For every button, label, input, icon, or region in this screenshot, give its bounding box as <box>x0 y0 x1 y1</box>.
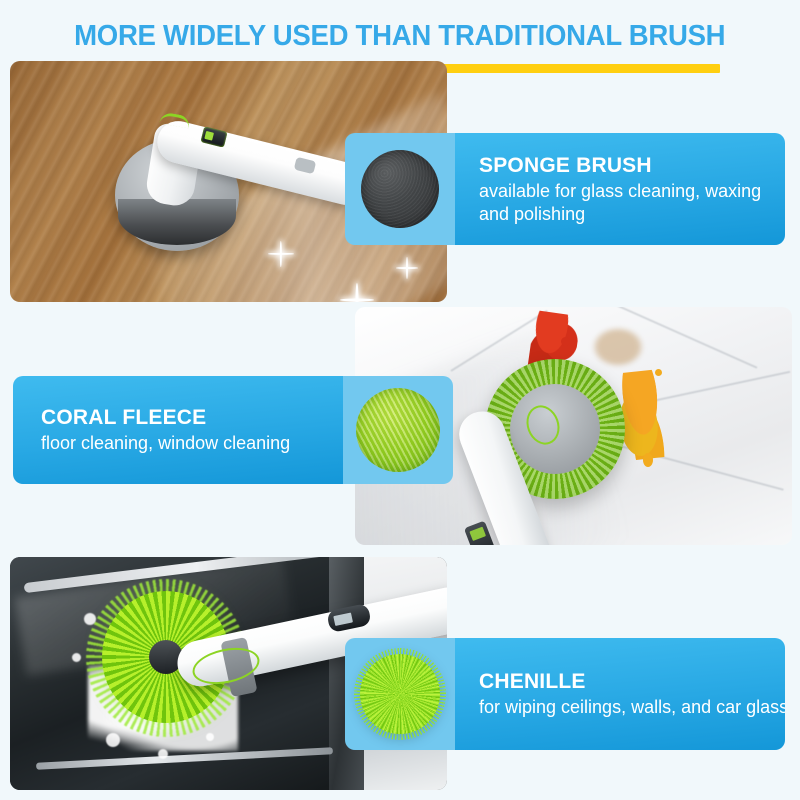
fleece-card-title: CORAL FLEECE <box>41 405 343 430</box>
sponge-card-title: SPONGE BRUSH <box>479 153 785 178</box>
fleece-card-description: floor cleaning, window cleaning <box>41 432 343 455</box>
page-title: MORE WIDELY USED THAN TRADITIONAL BRUSH <box>0 22 800 51</box>
mustard-droplet <box>643 453 653 467</box>
chenille-card-body: CHENILLE for wiping ceilings, walls, and… <box>455 638 785 750</box>
callout-card-chenille[interactable]: CHENILLE for wiping ceilings, walls, and… <box>345 638 785 750</box>
sponge-card-body: SPONGE BRUSH available for glass cleanin… <box>455 133 785 245</box>
sponge-swatch-panel <box>345 133 455 245</box>
coral-fleece-disc-icon <box>356 388 440 472</box>
page-title-text: MORE WIDELY USED THAN TRADITIONAL BRUSH <box>74 22 725 51</box>
chenille-card-description: for wiping ceilings, walls, and car glas… <box>479 696 785 719</box>
mustard-droplet <box>655 369 662 376</box>
soap-bubble <box>106 733 120 747</box>
sponge-disc-icon <box>361 150 439 228</box>
fleece-card-body: CORAL FLEECE floor cleaning, window clea… <box>13 376 343 484</box>
chenille-swatch-panel <box>345 638 455 750</box>
callout-card-sponge-brush[interactable]: SPONGE BRUSH available for glass cleanin… <box>345 133 785 245</box>
soap-bubble <box>206 733 214 741</box>
callout-card-coral-fleece[interactable]: CORAL FLEECE floor cleaning, window clea… <box>13 376 453 484</box>
grease-stain <box>587 323 649 371</box>
fleece-swatch-panel <box>343 376 453 484</box>
soap-bubble <box>84 613 96 625</box>
soap-bubble <box>158 749 168 759</box>
chenille-card-title: CHENILLE <box>479 669 785 694</box>
page-header: MORE WIDELY USED THAN TRADITIONAL BRUSH <box>0 0 800 62</box>
chenille-ball-icon <box>360 654 440 734</box>
sponge-card-description: available for glass cleaning, waxing and… <box>479 180 785 225</box>
soap-bubble <box>72 653 81 662</box>
ketchup-droplet <box>561 337 570 346</box>
